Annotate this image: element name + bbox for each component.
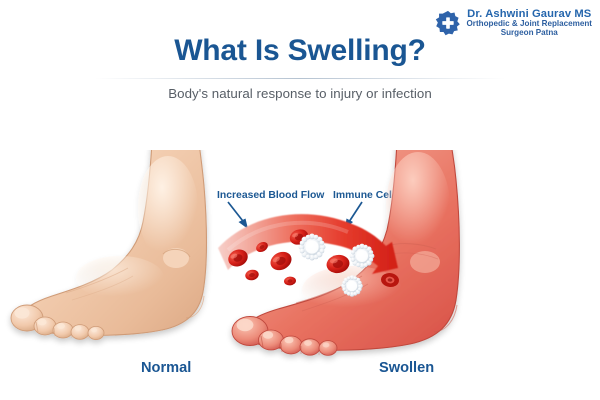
page-title: What Is Swelling?	[0, 34, 600, 68]
infographic-canvas: Dr. Ashwini Gaurav MS Orthopedic & Joint…	[0, 0, 600, 400]
page-subtitle: Body's natural response to injury or inf…	[0, 86, 600, 101]
foot-label-normal: Normal	[141, 360, 191, 376]
swelling-illustration	[0, 150, 600, 365]
header-divider	[95, 78, 505, 79]
gear-medical-cross-icon	[435, 10, 461, 36]
foot-label-swollen: Swollen	[379, 360, 434, 376]
normal-foot	[11, 150, 207, 340]
swollen-foot	[232, 150, 459, 355]
